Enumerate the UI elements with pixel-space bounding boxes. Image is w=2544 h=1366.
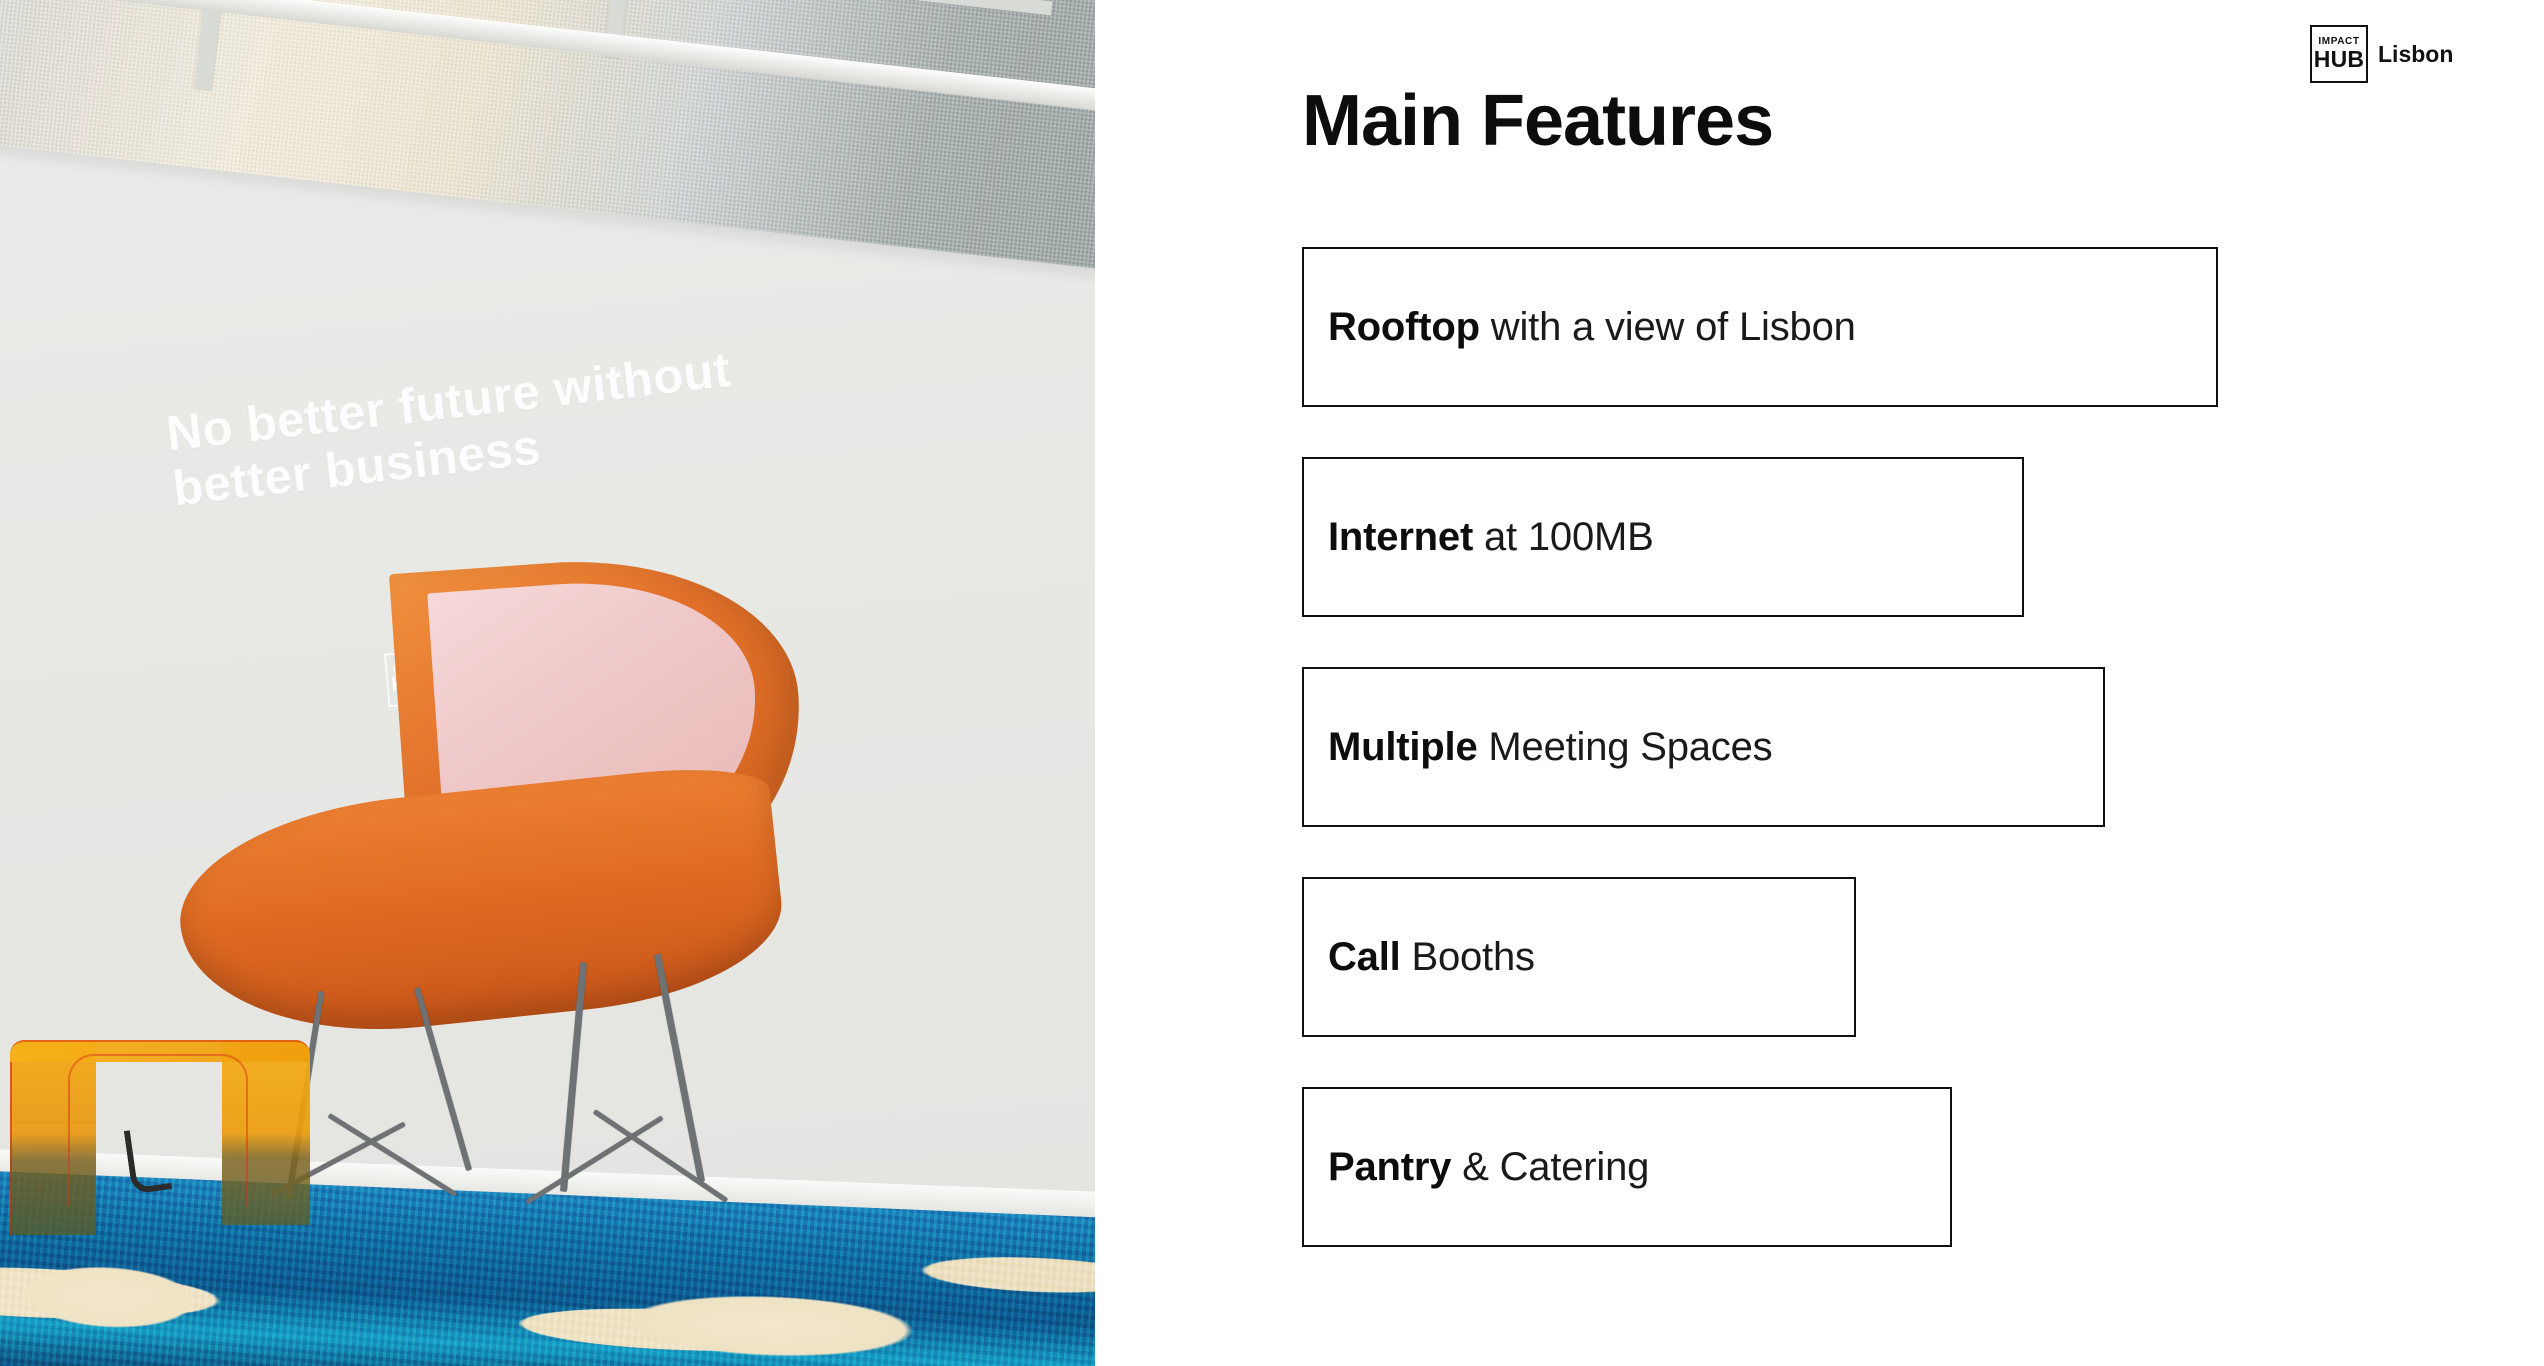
slide-root: No better future without better business… <box>0 0 2544 1366</box>
feature-text: Call Booths <box>1328 935 1535 980</box>
coconut-lounge-chair <box>240 560 800 1180</box>
chair-seat <box>170 759 791 1050</box>
rug-cream-patch <box>558 1275 982 1366</box>
feature-list: Rooftop with a view of Lisbon Internet a… <box>1302 247 2218 1297</box>
feature-text: Multiple Meeting Spaces <box>1328 725 1772 770</box>
feature-detail: Booths <box>1401 935 1535 979</box>
feature-keyword: Internet <box>1328 515 1473 559</box>
feature-keyword: Rooftop <box>1328 305 1480 349</box>
content-panel: IMPACT HUB Lisbon Main Features Rooftop … <box>1095 0 2544 1366</box>
feature-text: Internet at 100MB <box>1328 515 1654 560</box>
feature-detail: & Catering <box>1451 1145 1649 1189</box>
acrylic-inner-arc <box>68 1054 248 1206</box>
rug-cream-patch <box>0 1242 203 1366</box>
brand-logo: IMPACT HUB Lisbon <box>2310 25 2453 83</box>
feature-item-call-booths: Call Booths <box>1302 877 1856 1037</box>
brand-logo-hub-text: HUB <box>2314 48 2364 71</box>
feature-keyword: Multiple <box>1328 725 1478 769</box>
feature-detail: Meeting Spaces <box>1478 725 1773 769</box>
feature-text: Rooftop with a view of Lisbon <box>1328 305 1856 350</box>
acrylic-side-table <box>10 1040 310 1240</box>
brand-logo-city-text: Lisbon <box>2378 41 2453 68</box>
feature-item-pantry-catering: Pantry & Catering <box>1302 1087 1952 1247</box>
hero-photo: No better future without better business… <box>0 0 1095 1366</box>
feature-detail: at 100MB <box>1473 515 1654 559</box>
feature-detail: with a view of Lisbon <box>1480 305 1856 349</box>
feature-item-rooftop: Rooftop with a view of Lisbon <box>1302 247 2218 407</box>
feature-text: Pantry & Catering <box>1328 1145 1649 1190</box>
page-title: Main Features <box>1302 80 1773 162</box>
brand-logo-mark: IMPACT HUB <box>2310 25 2368 83</box>
feature-keyword: Pantry <box>1328 1145 1451 1189</box>
feature-keyword: Call <box>1328 935 1401 979</box>
feature-item-meeting-spaces: Multiple Meeting Spaces <box>1302 667 2105 827</box>
feature-item-internet: Internet at 100MB <box>1302 457 2024 617</box>
